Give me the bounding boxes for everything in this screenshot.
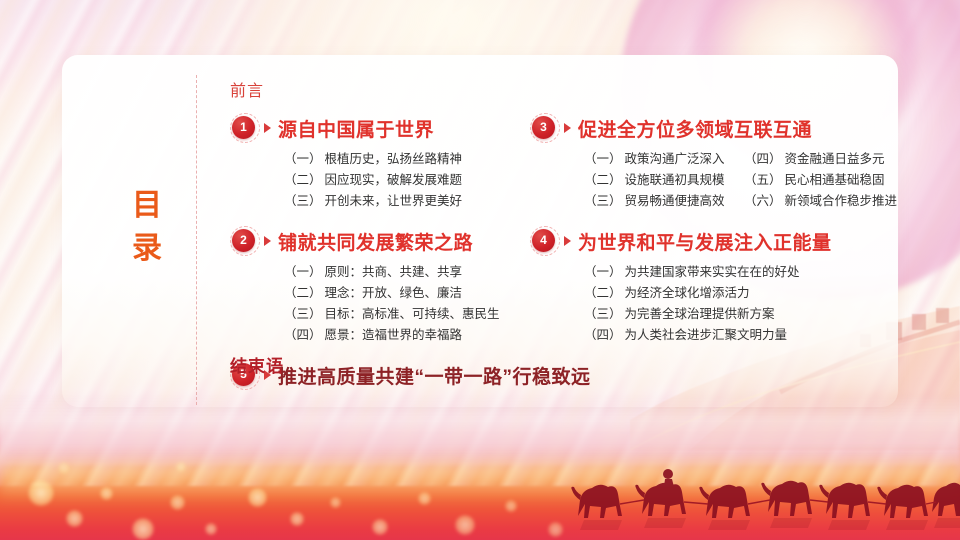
section-header[interactable]: 3 促进全方位多领域互联互通 — [530, 113, 920, 143]
subitem-number: （三） — [584, 194, 622, 208]
section-subitems: （一）根植历史，弘扬丝路精神 （二）因应现实，破解发展难题 （三）开创未 — [284, 149, 530, 212]
subitem-row: （二）设施联通初具规模 （五）民心相通基础稳固 — [584, 170, 920, 191]
list-item[interactable]: （一）原则：共商、共建、共享 — [284, 262, 444, 283]
section-header[interactable]: 5 推进高质量共建“一带一路”行稳致远 — [230, 360, 591, 390]
bokeh-circle — [176, 462, 186, 472]
subitem-number: （三） — [284, 194, 322, 208]
bokeh-circle — [248, 488, 267, 507]
list-item[interactable]: （四）资金融通日益多元 — [744, 149, 914, 170]
section-number-badge-wrap: 2 — [230, 226, 260, 256]
bokeh-circle — [372, 519, 388, 535]
toc-column-right: 3 促进全方位多领域互联互通 （一）政策沟通广泛深入 （ — [530, 113, 920, 346]
bokeh-circle — [100, 487, 113, 500]
subitem-text: 因应现实，破解发展难题 — [325, 173, 463, 187]
triangle-arrow-icon — [264, 123, 271, 133]
subitem-number: （一） — [584, 265, 622, 279]
subitem-number: （一） — [584, 152, 622, 166]
section-title: 为世界和平与发展注入正能量 — [578, 228, 832, 255]
subitem-text: 为经济全球化增添活力 — [625, 286, 750, 300]
triangle-arrow-icon — [564, 236, 571, 246]
list-item[interactable]: （三）开创未来，让世界更美好 — [284, 191, 444, 212]
subitem-number: （一） — [284, 265, 322, 279]
bokeh-circle — [132, 518, 154, 540]
subitem-number: （四） — [284, 328, 322, 342]
toc-column-left: 1 源自中国属于世界 （一）根植历史，弘扬丝路精神 — [230, 113, 530, 346]
section-header[interactable]: 4 为世界和平与发展注入正能量 — [530, 226, 920, 256]
bokeh-circle — [455, 515, 475, 535]
section-number-badge: 1 — [232, 116, 255, 139]
subitem-row: （三）贸易畅通便捷高效 （六）新领域合作稳步推进 — [584, 191, 920, 212]
subitem-text: 理念：开放、绿色、廉洁 — [325, 286, 463, 300]
list-item[interactable]: （二）设施联通初具规模 — [584, 170, 744, 191]
list-item[interactable]: （三）目标：高标准、可持续、惠民生 — [284, 304, 444, 325]
subitem-row: （三）为完善全球治理提供新方案 — [584, 304, 920, 325]
subitem-row: （一）为共建国家带来实实在在的好处 — [584, 262, 920, 283]
section-title: 源自中国属于世界 — [278, 115, 434, 142]
bokeh-circle — [58, 462, 70, 474]
subitem-number: （二） — [584, 173, 622, 187]
section-subitems: （一）为共建国家带来实实在在的好处 （二）为经济全球化增添活力 （三）为 — [584, 262, 920, 346]
subitem-text: 贸易畅通便捷高效 — [625, 194, 725, 208]
toc-section-2[interactable]: 2 铺就共同发展繁荣之路 （一）原则：共商、共建、共享 — [230, 226, 530, 346]
bokeh-circle — [205, 523, 217, 535]
section-subitems: （一）政策沟通广泛深入 （四）资金融通日益多元 （二）设施联通初具规模 — [584, 149, 920, 212]
subitem-row: （二）为经济全球化增添活力 — [584, 283, 920, 304]
closing-label: 结束语 — [230, 352, 284, 377]
list-item[interactable]: （五）民心相通基础稳固 — [744, 170, 914, 191]
subitem-text: 政策沟通广泛深入 — [625, 152, 725, 166]
subitem-row: （三）目标：高标准、可持续、惠民生 — [284, 304, 530, 325]
subitem-number: （一） — [284, 152, 322, 166]
section-number-badge: 3 — [532, 116, 555, 139]
subitem-number: （四） — [744, 152, 782, 166]
section-title: 促进全方位多领域互联互通 — [578, 115, 812, 142]
toc-section-5[interactable]: 5 推进高质量共建“一带一路”行稳致远 — [230, 360, 591, 390]
subitem-text: 资金融通日益多元 — [785, 152, 885, 166]
bokeh-circle — [330, 497, 341, 508]
bokeh-circle — [28, 480, 54, 506]
subitem-row: （一）根植历史，弘扬丝路精神 — [284, 149, 530, 170]
subitem-number: （二） — [284, 286, 322, 300]
toc-section-3[interactable]: 3 促进全方位多领域互联互通 （一）政策沟通广泛深入 （ — [530, 113, 920, 212]
subitem-text: 原则：共商、共建、共享 — [325, 265, 463, 279]
preface-label: 前言 — [230, 77, 264, 101]
section-header[interactable]: 2 铺就共同发展繁荣之路 — [230, 226, 530, 256]
subitem-number: （五） — [744, 173, 782, 187]
subitem-text: 为人类社会进步汇聚文明力量 — [625, 328, 788, 342]
subitem-text: 愿景：造福世界的幸福路 — [325, 328, 463, 342]
list-item[interactable]: （三）为完善全球治理提供新方案 — [584, 304, 775, 325]
subitem-row: （一）政策沟通广泛深入 （四）资金融通日益多元 — [584, 149, 920, 170]
triangle-arrow-icon — [564, 123, 571, 133]
subitem-text: 为完善全球治理提供新方案 — [625, 307, 775, 321]
subitem-number: （二） — [284, 173, 322, 187]
section-title: 铺就共同发展繁荣之路 — [278, 228, 473, 255]
page-title: 目 录 — [108, 185, 188, 270]
list-item[interactable]: （四）愿景：造福世界的幸福路 — [284, 325, 444, 346]
toc-section-1[interactable]: 1 源自中国属于世界 （一）根植历史，弘扬丝路精神 — [230, 113, 530, 212]
content-card: 目 录 前言 1 源自中国属于世界 — [62, 55, 898, 407]
subitem-row: （二）理念：开放、绿色、廉洁 — [284, 283, 530, 304]
subitem-row: （三）开创未来，让世界更美好 — [284, 191, 530, 212]
list-item[interactable]: （一）根植历史，弘扬丝路精神 — [284, 149, 444, 170]
section-title: 推进高质量共建“一带一路”行稳致远 — [278, 362, 591, 389]
section-header[interactable]: 1 源自中国属于世界 — [230, 113, 530, 143]
list-item[interactable]: （三）贸易畅通便捷高效 — [584, 191, 744, 212]
list-item[interactable]: （一）政策沟通广泛深入 — [584, 149, 744, 170]
subitem-text: 民心相通基础稳固 — [785, 173, 885, 187]
subitem-text: 为共建国家带来实实在在的好处 — [625, 265, 800, 279]
bokeh-circle — [418, 492, 431, 505]
subitem-row: （四）为人类社会进步汇聚文明力量 — [584, 325, 920, 346]
subitem-text: 根植历史，弘扬丝路精神 — [325, 152, 463, 166]
toc-section-4[interactable]: 4 为世界和平与发展注入正能量 （一）为共建国家带来实实在在的好处 — [530, 226, 920, 346]
list-item[interactable]: （六）新领域合作稳步推进 — [744, 191, 914, 212]
camel-caravan-silhouette — [560, 454, 960, 540]
subitem-number: （三） — [584, 307, 622, 321]
subitem-text: 设施联通初具规模 — [625, 173, 725, 187]
section-subitems: （一）原则：共商、共建、共享 （二）理念：开放、绿色、廉洁 （三）目标： — [284, 262, 530, 346]
section-number-badge-wrap: 4 — [530, 226, 560, 256]
bokeh-circle — [290, 512, 304, 526]
bokeh-circle — [66, 510, 83, 527]
toc-content: 前言 1 源自中国属于世界 — [230, 77, 888, 407]
slide-canvas: 目 录 前言 1 源自中国属于世界 — [0, 0, 960, 540]
list-item[interactable]: （四）为人类社会进步汇聚文明力量 — [584, 325, 787, 346]
section-number-badge: 2 — [232, 229, 255, 252]
subitem-row: （四）愿景：造福世界的幸福路 — [284, 325, 530, 346]
subitem-number: （三） — [284, 307, 322, 321]
subitem-number: （六） — [744, 194, 782, 208]
subitem-number: （二） — [584, 286, 622, 300]
list-item[interactable]: （一）为共建国家带来实实在在的好处 — [584, 262, 800, 283]
subitem-text: 目标：高标准、可持续、惠民生 — [325, 307, 500, 321]
section-number-badge-wrap: 1 — [230, 113, 260, 143]
bokeh-circle — [170, 495, 185, 510]
subitem-row: （二）因应现实，破解发展难题 — [284, 170, 530, 191]
subitem-row: （一）原则：共商、共建、共享 — [284, 262, 530, 283]
section-number-badge-wrap: 3 — [530, 113, 560, 143]
vertical-dashed-divider — [196, 75, 197, 405]
subitem-text: 新领域合作稳步推进 — [785, 194, 898, 208]
subitem-number: （四） — [584, 328, 622, 342]
list-item[interactable]: （二）为经济全球化增添活力 — [584, 283, 750, 304]
triangle-arrow-icon — [264, 236, 271, 246]
bokeh-circle — [505, 500, 517, 512]
subitem-text: 开创未来，让世界更美好 — [325, 194, 463, 208]
list-item[interactable]: （二）因应现实，破解发展难题 — [284, 170, 444, 191]
section-number-badge: 4 — [532, 229, 555, 252]
list-item[interactable]: （二）理念：开放、绿色、廉洁 — [284, 283, 444, 304]
